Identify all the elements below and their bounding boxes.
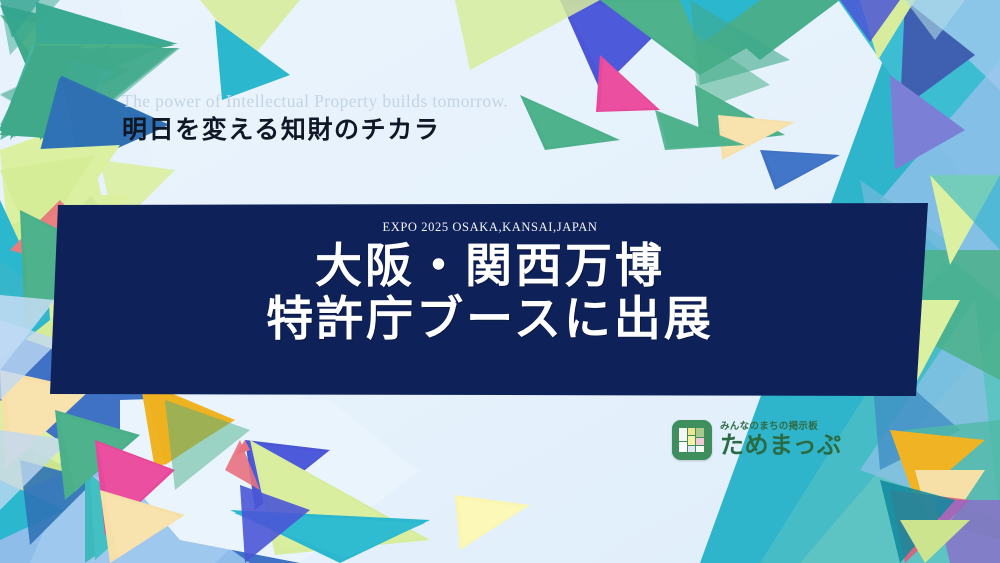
tamemap-mark-icon — [672, 420, 712, 460]
banner-heading-line-1: 大阪・関西万博 — [266, 241, 714, 294]
banner-eyebrow: EXPO 2025 OSAKA,KANSAI,JAPAN — [383, 220, 598, 235]
banner-heading-line-2: 特許庁ブースに出展 — [266, 294, 714, 347]
poster-canvas: EXPO 2025 OSAKA,KANSAI,JAPAN 大阪・関西万博 特許庁… — [0, 0, 1000, 563]
tagline-group: The power of Intellectual Property build… — [122, 92, 682, 146]
tagline-english: The power of Intellectual Property build… — [122, 92, 682, 111]
logo-name: ためまっぷ — [720, 434, 842, 458]
banner-text-group: EXPO 2025 OSAKA,KANSAI,JAPAN 大阪・関西万博 特許庁… — [55, 205, 925, 395]
brand-logo[interactable]: みんなのまちの掲示板 ためまっぷ — [672, 420, 842, 460]
tagline-japanese: 明日を変える知財のチカラ — [122, 116, 682, 146]
logo-tagline: みんなのまちの掲示板 — [720, 422, 842, 432]
logo-text-group: みんなのまちの掲示板 ためまっぷ — [720, 422, 842, 458]
banner-heading: 大阪・関西万博 特許庁ブースに出展 — [266, 241, 714, 346]
